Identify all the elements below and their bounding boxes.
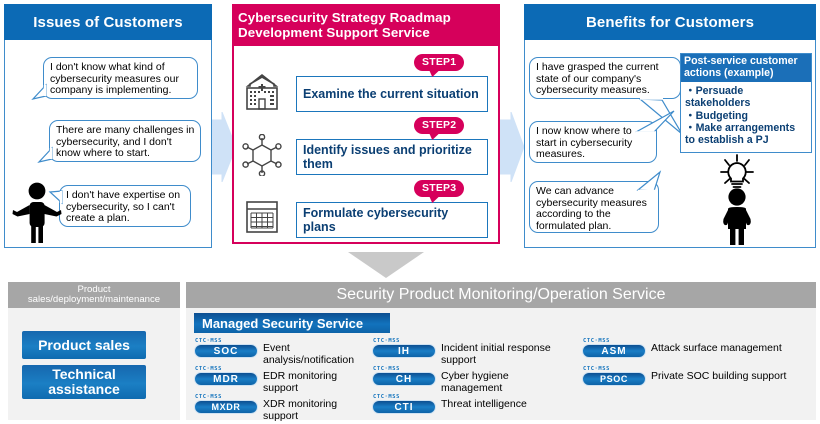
step-badge-1: STEP1 [414,54,464,71]
service-item-mxdr[interactable]: CTC·MSS MXDR XDR monitoring support [194,394,364,422]
panel-title-benefits: Benefits for Customers [524,4,816,40]
issue-bubble-2-text: There are many challenges in cybersecuri… [56,124,194,159]
issue-bubble-1: I don't know what kind of cybersecurity … [43,57,198,99]
step-badge-3-text: STEP3 [422,182,456,194]
bubble-tail-icon [33,84,47,98]
calendar-grid-icon [244,199,280,235]
arrow-top-to-bottom-icon [338,252,434,278]
panel-title-issues: Issues of Customers [4,4,212,40]
logo-code-text: MXDR [194,400,258,414]
benefit-bubble-2: I now know where to start in cybersecuri… [529,121,657,163]
panel-title-roadmap: Cybersecurity Strategy Roadmap Developme… [232,4,500,46]
service-item-ih[interactable]: CTC·MSS IH Incident initial response sup… [372,338,572,366]
panel-title-roadmap-line2: Development Support Service [238,25,430,40]
step-box-3: Formulate cybersecurity plans [296,202,488,238]
post-service-item: ・Budgeting [685,110,808,122]
step-badge-2-text: STEP2 [422,119,456,131]
logo-mdr: CTC·MSS MDR [194,366,258,386]
issue-bubble-2: There are many challenges in cybersecuri… [49,120,201,162]
step-box-1: Examine the current situation [296,76,488,112]
bubble-tail-icon [39,147,53,161]
issue-bubble-3: I don't have expertise on cybersecurity,… [59,185,191,227]
building-icon [242,72,282,112]
service-item-psoc[interactable]: CTC·MSS PSOC Private SOC building suppor… [582,366,816,386]
post-service-title: Post-service customer actions (example) [681,54,811,82]
logo-code-text: MDR [194,372,258,386]
benefits-for-customers-panel: Benefits for Customers I have grasped th… [524,4,816,248]
technical-assistance-button[interactable]: Technical assistance [22,365,146,399]
step-box-2: Identify issues and prioritize them [296,139,488,175]
service-item-ch[interactable]: CTC·MSS CH Cyber hygiene management [372,366,572,394]
logo-ih: CTC·MSS IH [372,338,436,358]
service-label: XDR monitoring support [258,394,364,422]
service-label: Attack surface management [646,338,782,355]
managed-security-service-header: Managed Security Service [194,313,390,333]
security-monitoring-header: Security Product Monitoring/Operation Se… [186,282,816,308]
diagram-canvas: Issues of Customers I don't know what ki… [0,0,820,424]
logo-mxdr: CTC·MSS MXDR [194,394,258,414]
arrow-center-to-right-icon [498,112,524,182]
badge-tail-icon [427,195,440,203]
step-badge-2: STEP2 [414,117,464,134]
service-label: Cyber hygiene management [436,366,572,394]
logo-ch: CTC·MSS CH [372,366,436,386]
benefit-bubble-3: We can advance cybersecurity measures ac… [529,181,659,233]
bubble-tail-icon [634,110,648,124]
benefit-bubble-1: I have grasped the current state of our … [529,57,681,99]
product-sales-button[interactable]: Product sales [22,331,146,359]
logo-cti: CTC·MSS CTI [372,394,436,414]
logo-code-text: SOC [194,344,258,358]
person-shrug-icon [11,181,63,243]
service-item-cti[interactable]: CTC·MSS CTI Threat intelligence [372,394,572,414]
logo-code-text: CTI [372,400,436,414]
logo-code-text: PSOC [582,372,646,386]
issues-of-customers-panel: Issues of Customers I don't know what ki… [4,4,212,248]
service-item-soc[interactable]: CTC·MSS SOC Event analysis/notification [194,338,364,366]
issue-bubble-3-text: I don't have expertise on cybersecurity,… [66,189,180,224]
product-sales-header-line2: sales/deployment/maintenance [28,295,160,305]
badge-tail-icon [427,69,440,77]
benefit-bubble-1-text: I have grasped the current state of our … [536,61,659,96]
product-sales-header: Product sales/deployment/maintenance [8,282,180,308]
service-item-mdr[interactable]: CTC·MSS MDR EDR monitoring support [194,366,364,394]
person-idea-lightbulb-icon [705,153,769,245]
logo-code-text: CH [372,372,436,386]
benefit-bubble-2-text: I now know where to start in cybersecuri… [536,125,632,160]
step-badge-1-text: STEP1 [422,56,456,68]
service-label: Event analysis/notification [258,338,364,366]
benefit-bubble-3-text: We can advance cybersecurity measures ac… [536,185,647,232]
logo-soc: CTC·MSS SOC [194,338,258,358]
issue-bubble-1-text: I don't know what kind of cybersecurity … [50,61,179,96]
logo-asm: CTC·MSS ASM [582,338,646,358]
step-box-1-label: Examine the current situation [303,87,479,101]
roadmap-service-panel: Cybersecurity Strategy Roadmap Developme… [232,4,500,244]
logo-code-text: ASM [582,344,646,358]
product-sales-body [8,308,180,420]
service-label: Incident initial response support [436,338,572,366]
step-box-3-label: Formulate cybersecurity plans [303,206,481,235]
step-badge-3: STEP3 [414,180,464,197]
badge-tail-icon [427,132,440,140]
service-label: Threat intelligence [436,394,527,411]
molecule-icon [242,134,282,176]
post-service-actions-box: Post-service customer actions (example) … [680,53,812,153]
logo-psoc: CTC·MSS PSOC [582,366,646,386]
service-label: Private SOC building support [646,366,786,383]
bubble-tail-icon [634,172,648,186]
service-item-asm[interactable]: CTC·MSS ASM Attack surface management [582,338,816,358]
post-service-list: ・Persuade stakeholders ・Budgeting ・Make … [681,82,811,149]
logo-code-text: IH [372,344,436,358]
post-service-item: ・Make arrangements to establish a PJ [685,122,808,146]
post-service-item: ・Persuade stakeholders [685,85,808,109]
service-label: EDR monitoring support [258,366,364,394]
panel-title-roadmap-line1: Cybersecurity Strategy Roadmap [238,10,451,25]
step-box-2-label: Identify issues and prioritize them [303,143,481,172]
